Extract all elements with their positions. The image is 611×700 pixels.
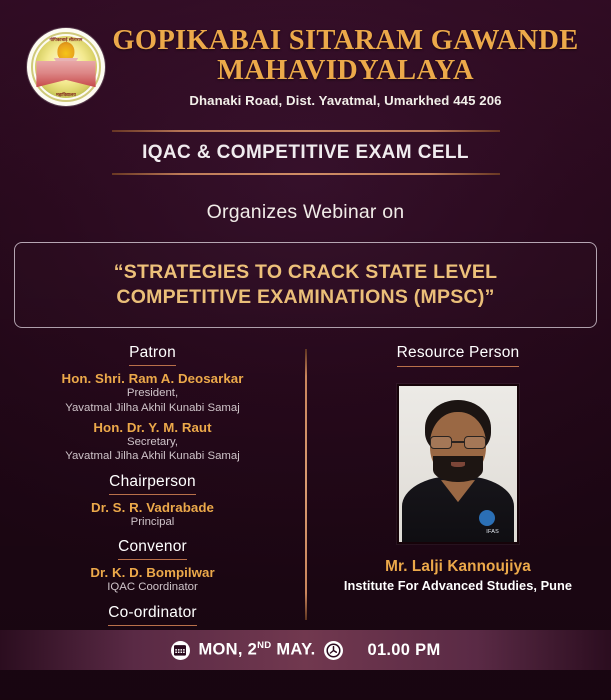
- organizes-label: Organizes Webinar on: [0, 175, 611, 224]
- shirt-logo-text: IFAS: [486, 529, 499, 535]
- resource-person-column: Resource Person IFAS: [305, 344, 611, 632]
- cell-title: IQAC & COMPETITIVE EXAM CELL: [0, 132, 611, 173]
- event-date-prefix: MON, 2: [199, 641, 258, 659]
- resource-person-photo: IFAS: [397, 384, 519, 544]
- webinar-topic-box: “STRATEGIES TO CRACK STATE LEVEL COMPETI…: [14, 242, 597, 328]
- vertical-divider: [305, 349, 307, 620]
- glasses-icon: [430, 436, 486, 449]
- mouth-shape: [451, 462, 465, 467]
- event-time: 01.00 PM: [367, 641, 440, 660]
- calendar-icon: [171, 641, 190, 660]
- college-name-line1: GOPIKABAI SITARAM GAWANDE: [112, 26, 579, 56]
- person-subtitle: President,: [18, 387, 287, 400]
- resource-person-name: Mr. Lalji Kannoujiya: [319, 558, 597, 576]
- person-affiliation: Yavatmal Jilha Akhil Kunabi Samaj: [18, 450, 287, 463]
- person-subtitle: IQAC Coordinator: [18, 581, 287, 594]
- committee-group-chairperson: Chairperson Dr. S. R. Vadrabade Principa…: [18, 473, 287, 529]
- topic-line1: “STRATEGIES TO CRACK STATE LEVEL: [31, 260, 580, 285]
- person-name: Hon. Shri. Ram A. Deosarkar: [18, 371, 287, 386]
- role-heading: Co-ordinator: [108, 604, 197, 626]
- event-date-suffix: MAY.: [271, 641, 315, 659]
- resource-person-heading: Resource Person: [397, 344, 520, 367]
- topic-line2: COMPETITIVE EXAMINATIONS (MPSC)”: [31, 285, 580, 310]
- poster-header: गोपिकाबाई सीताराम महाविद्यालय GOPIKABAI …: [0, 0, 611, 120]
- event-date: MON, 2ND MAY.: [199, 640, 316, 660]
- shirt-logo-icon: [479, 510, 495, 526]
- person-subtitle: Secretary,: [18, 436, 287, 449]
- role-heading: Patron: [129, 344, 176, 366]
- beard-shape: [433, 456, 483, 482]
- event-date-ordinal: ND: [257, 640, 271, 651]
- webinar-poster: गोपिकाबाई सीताराम महाविद्यालय GOPIKABAI …: [0, 0, 611, 700]
- person-name: Dr. K. D. Bompilwar: [18, 565, 287, 580]
- logo-text-bottom: महाविद्यालय: [27, 92, 105, 98]
- role-heading: Chairperson: [109, 473, 196, 495]
- person-name: Dr. S. R. Vadrabade: [18, 500, 287, 515]
- poster-body: Patron Hon. Shri. Ram A. Deosarkar Presi…: [0, 344, 611, 632]
- committee-group-convenor: Convenor Dr. K. D. Bompilwar IQAC Coordi…: [18, 538, 287, 594]
- resource-person-organization: Institute For Advanced Studies, Pune: [319, 578, 597, 593]
- clock-icon: [324, 641, 343, 660]
- person-name: Hon. Dr. Y. M. Raut: [18, 420, 287, 435]
- speaker-portrait: IFAS: [399, 386, 517, 542]
- college-name-line2: MAHAVIDYALAYA: [112, 56, 579, 86]
- college-address: Dhanaki Road, Dist. Yavatmal, Umarkhed 4…: [112, 93, 579, 108]
- poster-footer: MON, 2ND MAY. 01.00 PM: [0, 630, 611, 670]
- role-heading: Convenor: [118, 538, 187, 560]
- college-logo: गोपिकाबाई सीताराम महाविद्यालय: [26, 27, 106, 107]
- committee-group-patron: Patron Hon. Shri. Ram A. Deosarkar Presi…: [18, 344, 287, 464]
- person-subtitle: Principal: [18, 516, 287, 529]
- logo-text-top: गोपिकाबाई सीताराम: [27, 37, 105, 43]
- committee-column: Patron Hon. Shri. Ram A. Deosarkar Presi…: [0, 344, 305, 632]
- cell-banner: IQAC & COMPETITIVE EXAM CELL Organizes W…: [0, 130, 611, 224]
- person-affiliation: Yavatmal Jilha Akhil Kunabi Samaj: [18, 402, 287, 415]
